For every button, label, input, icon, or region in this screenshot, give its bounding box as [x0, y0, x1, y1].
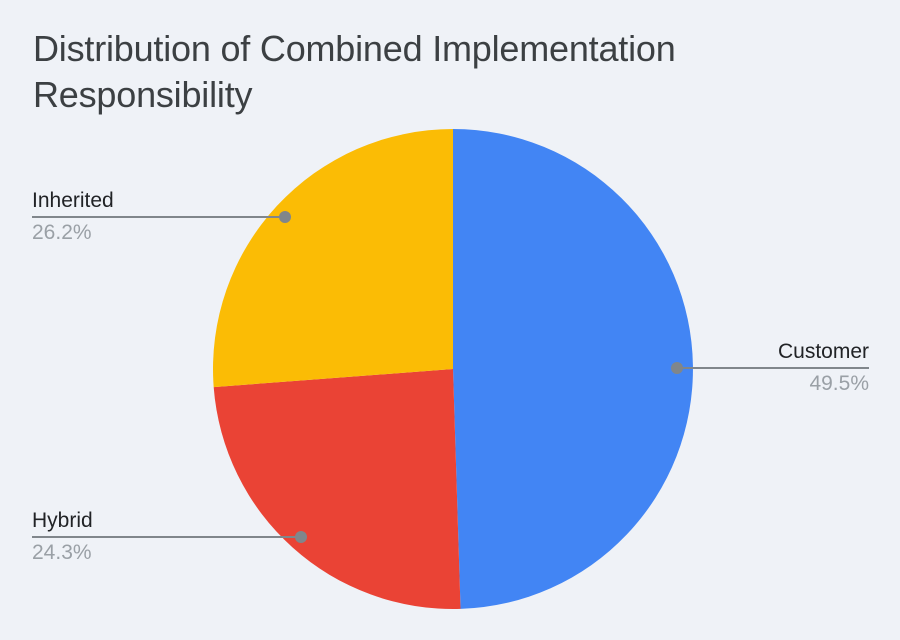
pie-value-customer: 49.5%	[809, 371, 869, 396]
pie-value-hybrid: 24.3%	[32, 540, 92, 565]
pie-label-hybrid: Hybrid	[32, 508, 93, 533]
pie-label-inherited: Inherited	[32, 188, 114, 213]
pie-value-inherited: 26.2%	[32, 220, 92, 245]
leader-dot-hybrid	[295, 531, 307, 543]
leader-dot-inherited	[279, 211, 291, 223]
pie-label-customer: Customer	[778, 339, 869, 364]
pie-slice-customer[interactable]	[453, 129, 693, 609]
chart-canvas: Distribution of Combined Implementation …	[0, 0, 900, 640]
pie-slice-hybrid[interactable]	[214, 369, 461, 609]
pie-slice-inherited[interactable]	[213, 129, 453, 387]
leader-dot-customer	[671, 362, 683, 374]
pie-chart-graphic	[0, 0, 900, 640]
